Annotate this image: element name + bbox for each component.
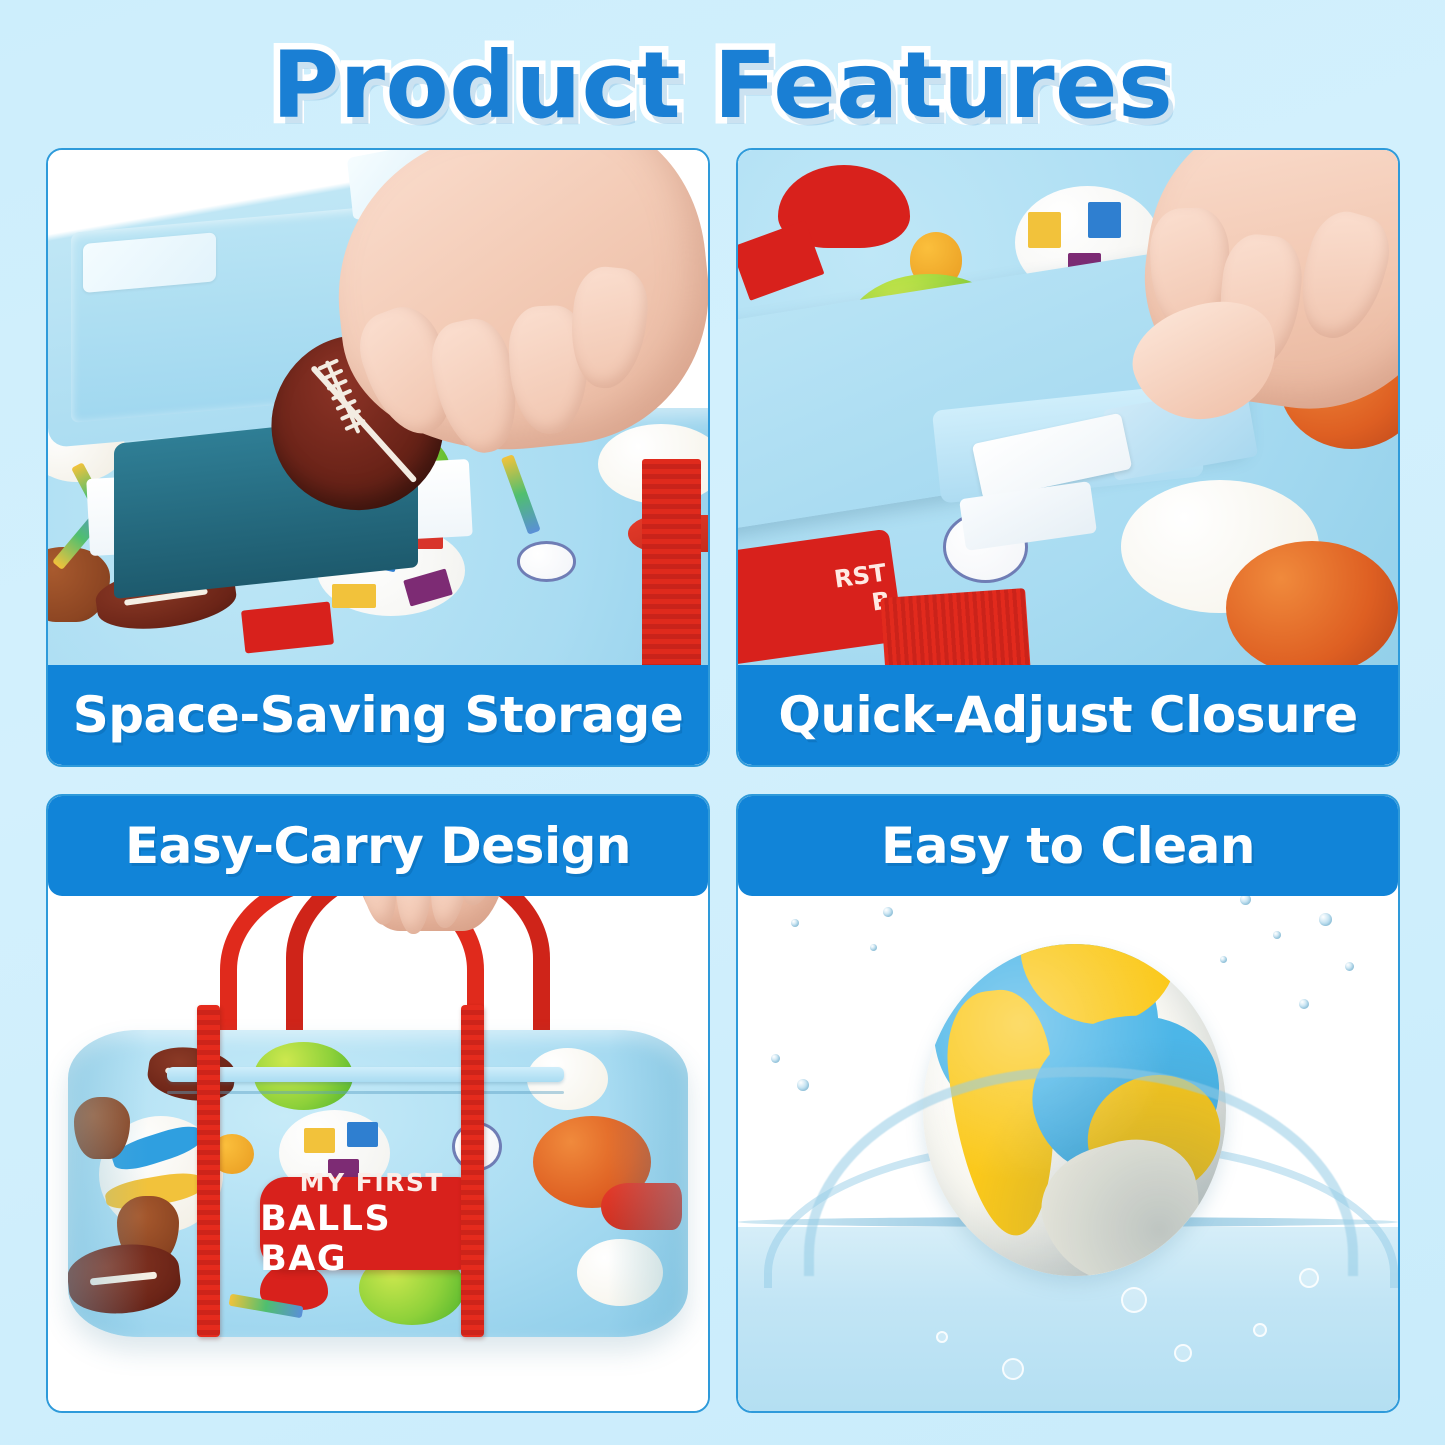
print-soccer-patch: [347, 1122, 378, 1147]
water-droplet: [797, 1079, 809, 1091]
bag-label-line1: MY FIRST: [300, 1168, 444, 1197]
photo-space-saving-storage: [48, 150, 708, 665]
water-bubble: [1253, 1323, 1267, 1337]
water-droplet: [1319, 913, 1332, 926]
duffel-ball-bag: MY FIRST BALLS BAG: [68, 1030, 688, 1338]
caption-text: Easy to Clean: [881, 817, 1255, 875]
photo-quick-adjust-closure: RST B: [738, 150, 1398, 665]
red-webbing-strap: [642, 459, 701, 665]
water-droplet: [883, 907, 893, 917]
print-stopwatch-icon: [517, 541, 576, 581]
caption-bar-quick-adjust-closure: Quick-Adjust Closure: [738, 665, 1398, 765]
feature-panel-easy-carry-design[interactable]: MY FIRST BALLS BAG Easy-Carry Design: [46, 794, 710, 1413]
bag-handle-strap: [461, 1005, 485, 1337]
page-header: Product Features: [0, 30, 1445, 140]
water-droplet: [1273, 931, 1281, 939]
print-soccer-patch: [332, 584, 376, 608]
bag-handle-strap: [197, 1005, 221, 1337]
water-droplet: [1345, 962, 1354, 971]
water-bubble: [1174, 1344, 1192, 1362]
caption-text: Easy-Carry Design: [125, 817, 631, 875]
bag-zipper-line: [167, 1091, 564, 1094]
water-droplet: [870, 944, 877, 951]
bag-end-cap: [608, 1030, 689, 1338]
caption-text: Space-Saving Storage: [73, 686, 683, 744]
print-pencil-icon: [500, 454, 540, 535]
print-soccer-patch: [1028, 212, 1061, 248]
print-flag-icon: [241, 601, 334, 653]
red-webbing-strap: [880, 588, 1031, 665]
water-droplet: [1220, 956, 1227, 963]
water-bubble: [1121, 1287, 1147, 1313]
features-grid: Space-Saving Storage: [46, 148, 1400, 1413]
water-droplet: [1299, 999, 1309, 1009]
feature-panel-space-saving-storage[interactable]: Space-Saving Storage: [46, 148, 710, 767]
bag-end-cap: [68, 1030, 149, 1338]
print-soccer-patch: [1088, 202, 1121, 238]
water-splash-crown: [804, 1067, 1358, 1276]
feature-panel-easy-to-clean[interactable]: Easy to Clean: [736, 794, 1400, 1413]
water-droplet: [791, 919, 799, 927]
print-soccer-patch: [304, 1128, 335, 1153]
print-basketball-icon: [1226, 541, 1398, 665]
feature-panel-quick-adjust-closure[interactable]: RST B Quick-Adjust Closure: [736, 148, 1400, 767]
water-droplet: [771, 1054, 780, 1063]
water-bubble: [1299, 1268, 1319, 1288]
bag-brand-label: MY FIRST BALLS BAG: [260, 1177, 483, 1269]
bag-zipper: [167, 1067, 564, 1082]
caption-bar-easy-to-clean: Easy to Clean: [738, 796, 1398, 896]
caption-bar-easy-carry-design: Easy-Carry Design: [48, 796, 708, 896]
page-title: Product Features: [272, 32, 1174, 139]
caption-bar-space-saving-storage: Space-Saving Storage: [48, 665, 708, 765]
water-droplet: [1240, 894, 1251, 905]
caption-text: Quick-Adjust Closure: [778, 686, 1357, 744]
bag-label-line2: BALLS BAG: [260, 1199, 483, 1279]
